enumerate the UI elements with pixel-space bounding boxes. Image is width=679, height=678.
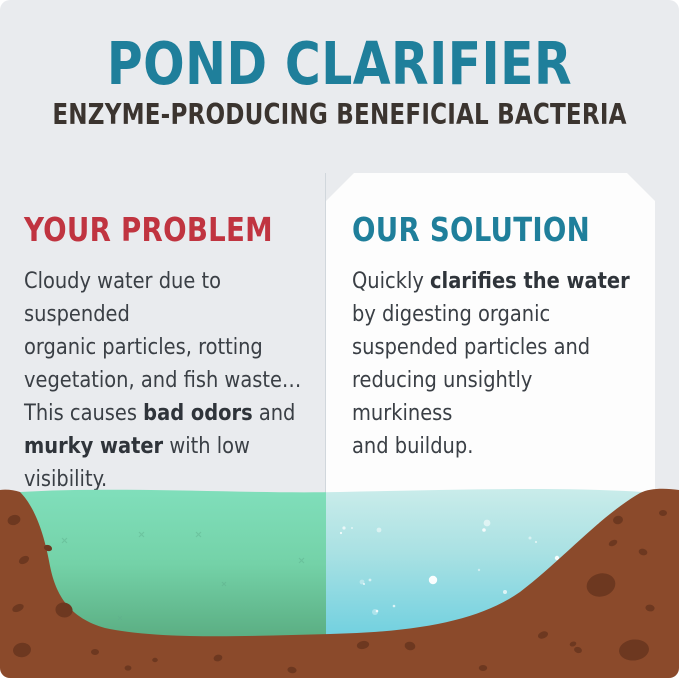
pond-illustration (0, 470, 679, 678)
problem-emphasis-murky-water: murky water (24, 433, 163, 459)
problem-line-1: Cloudy water due to suspended (24, 268, 221, 327)
problem-line-2: organic particles, rotting (24, 334, 263, 360)
problem-emphasis-bad-odors: bad odors (143, 400, 252, 426)
header: POND CLARIFIER ENZYME-PRODUCING BENEFICI… (0, 0, 679, 165)
solution-line-4: reducing unsightly murkiness (352, 367, 532, 426)
poster-root: POND CLARIFIER ENZYME-PRODUCING BENEFICI… (0, 0, 679, 678)
problem-column: YOUR PROBLEM Cloudy water due to suspend… (24, 213, 324, 496)
column-divider (325, 173, 326, 498)
solution-emphasis-clarifies: clarifies the water (430, 268, 630, 294)
solution-heading: OUR SOLUTION (352, 213, 622, 247)
solution-column: OUR SOLUTION Quickly clarifies the water… (352, 213, 642, 463)
solution-line-5: and buildup. (352, 433, 473, 459)
solution-line-1-prefix: Quickly (352, 268, 430, 294)
problem-line-4-prefix: This causes (24, 400, 143, 426)
page-title: POND CLARIFIER (27, 0, 652, 94)
problem-line-4-suffix: and (253, 400, 296, 426)
solution-line-3: suspended particles and (352, 334, 590, 360)
problem-heading: YOUR PROBLEM (24, 213, 303, 247)
page-subtitle: ENZYME-PRODUCING BENEFICIAL BACTERIA (34, 94, 645, 130)
problem-line-3: vegetation, and fish waste… (24, 367, 301, 393)
solution-line-2: by digesting organic (352, 301, 550, 327)
problem-body: Cloudy water due to suspended organic pa… (24, 265, 312, 496)
solution-body: Quickly clarifies the water by digesting… (352, 265, 630, 463)
